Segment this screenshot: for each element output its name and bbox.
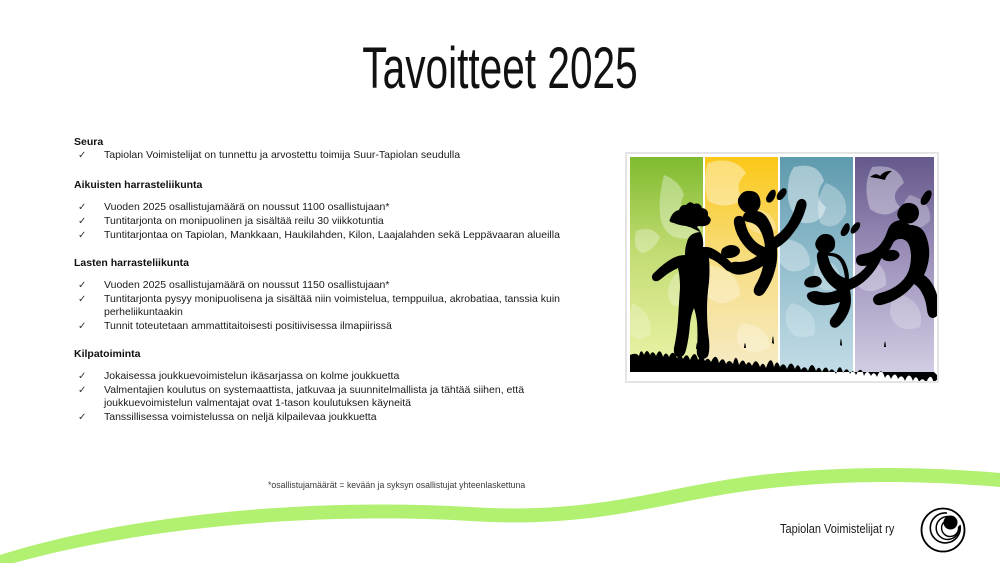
checkmark-icon: ✓ [78, 215, 86, 228]
list-item: ✓ Tuntitarjontaa on Tapiolan, Mankkaan, … [74, 229, 594, 242]
spacer [74, 270, 594, 279]
section-seura: Seura ✓ Tapiolan Voimistelijat on tunnet… [74, 136, 594, 162]
list-item-text: Tuntitarjonta pysyy monipuolisena ja sis… [104, 293, 560, 318]
checkmark-icon: ✓ [78, 229, 86, 242]
list-item: ✓ Tapiolan Voimistelijat on tunnettu ja … [74, 149, 594, 162]
list-item: ✓ Vuoden 2025 osallistujamäärä on noussu… [74, 201, 594, 214]
checkmark-icon: ✓ [78, 293, 86, 306]
list-item: ✓ Tanssillisessa voimistelussa on neljä … [74, 411, 594, 424]
list-item-text: Tuntitarjontaa on Tapiolan, Mankkaan, Ha… [104, 229, 560, 241]
list-item-text: Jokaisessa joukkuevoimistelun ikäsarjass… [104, 370, 399, 382]
bullet-list: ✓ Vuoden 2025 osallistujamäärä on noussu… [74, 279, 594, 334]
checkmark-icon: ✓ [78, 384, 86, 397]
spacer [74, 243, 594, 257]
slide-canvas: Tavoitteet 2025 Seura ✓ Tapiolan Voimist… [0, 0, 1000, 563]
spiral-logo-icon [919, 505, 967, 553]
section-aikuisten-harrasteliikunta: Aikuisten harrasteliikunta ✓ Vuoden 2025… [74, 179, 594, 242]
list-item: ✓ Tuntitarjonta on monipuolinen ja sisäl… [74, 215, 594, 228]
section-heading: Aikuisten harrasteliikunta [74, 179, 594, 192]
section-heading: Kilpatoiminta [74, 348, 594, 361]
list-item-text: Tapiolan Voimistelijat on tunnettu ja ar… [104, 149, 460, 161]
list-item: ✓ Tuntitarjonta pysyy monipuolisena ja s… [74, 293, 594, 320]
list-item-text: Vuoden 2025 osallistujamäärä on noussut … [104, 201, 389, 213]
spacer [74, 334, 594, 348]
list-item-text: Tunnit toteutetaan ammattitaitoisesti po… [104, 320, 392, 332]
checkmark-icon: ✓ [78, 411, 86, 424]
logo-text: Tapiolan Voimistelijat ry [780, 521, 894, 537]
checkmark-icon: ✓ [78, 201, 86, 214]
list-item: ✓ Tunnit toteutetaan ammattitaitoisesti … [74, 320, 594, 333]
page-title: Tavoitteet 2025 [150, 38, 850, 100]
checkmark-icon: ✓ [78, 149, 86, 162]
list-item-text: Tuntitarjonta on monipuolinen ja sisältä… [104, 215, 384, 227]
section-heading: Seura [74, 136, 594, 149]
list-item-text: Tanssillisessa voimistelussa on neljä ki… [104, 411, 377, 423]
spacer [74, 361, 594, 370]
list-item: ✓ Jokaisessa joukkuevoimistelun ikäsarja… [74, 370, 594, 383]
list-item-text: Valmentajien koulutus on systemaattista,… [104, 384, 524, 409]
organization-logo: Tapiolan Voimistelijat ry [780, 505, 967, 553]
content-column: Seura ✓ Tapiolan Voimistelijat on tunnet… [74, 136, 594, 425]
bullet-list: ✓ Tapiolan Voimistelijat on tunnettu ja … [74, 149, 594, 162]
checkmark-icon: ✓ [78, 320, 86, 333]
section-kilpatoiminta: Kilpatoiminta ✓ Jokaisessa joukkuevoimis… [74, 348, 594, 425]
bullet-list: ✓ Vuoden 2025 osallistujamäärä on noussu… [74, 201, 594, 242]
spacer [74, 163, 594, 179]
section-lasten-harrasteliikunta: Lasten harrasteliikunta ✓ Vuoden 2025 os… [74, 257, 594, 334]
list-item-text: Vuoden 2025 osallistujamäärä on noussut … [104, 279, 389, 291]
bullet-list: ✓ Jokaisessa joukkuevoimistelun ikäsarja… [74, 370, 594, 425]
checkmark-icon: ✓ [78, 279, 86, 292]
section-heading: Lasten harrasteliikunta [74, 257, 594, 270]
checkmark-icon: ✓ [78, 370, 86, 383]
jumping-people-image [625, 152, 939, 383]
list-item: ✓ Vuoden 2025 osallistujamäärä on noussu… [74, 279, 594, 292]
list-item: ✓ Valmentajien koulutus on systemaattist… [74, 384, 594, 411]
spacer [74, 192, 594, 201]
